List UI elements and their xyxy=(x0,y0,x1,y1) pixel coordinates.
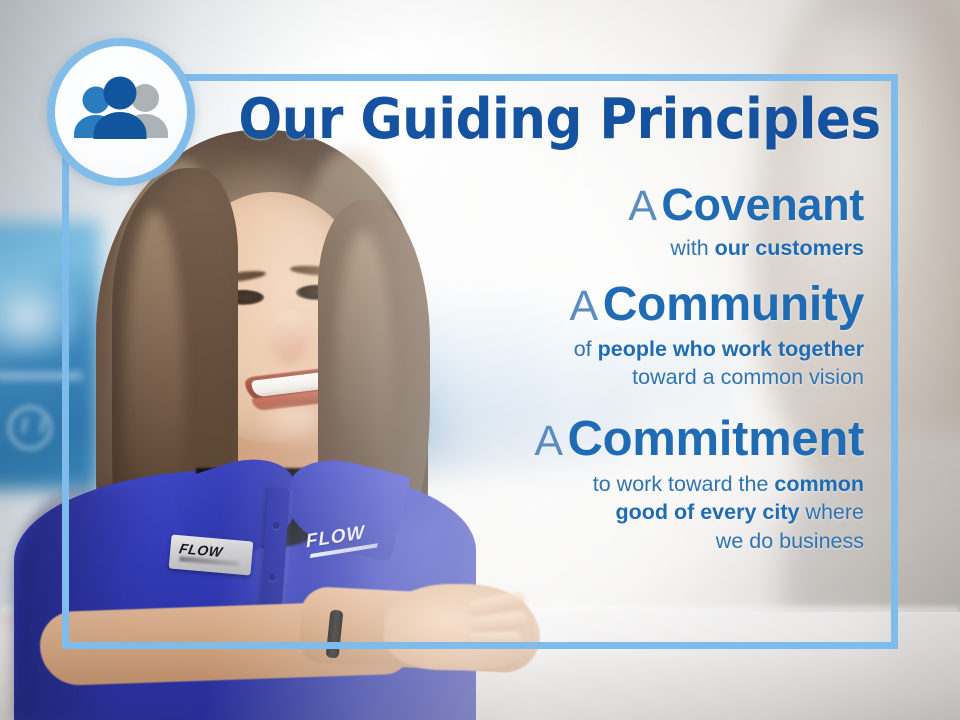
subtitle-emphasis: people who work together xyxy=(598,337,864,361)
principle-subtitle: of people who work togethertoward a comm… xyxy=(250,335,864,392)
principle-article: A xyxy=(628,182,657,230)
finger-3 xyxy=(468,632,522,648)
page-title: Our Guiding Principles xyxy=(238,92,845,148)
clasped-hands xyxy=(384,584,534,670)
principle-article: A xyxy=(570,282,599,330)
name-badge: FLOW xyxy=(169,534,254,575)
subtitle-text: with xyxy=(670,236,714,260)
subtitle-line: toward a common vision xyxy=(250,363,864,391)
polo-shadow xyxy=(14,486,164,720)
principle-covenant: A Covenant with our customers xyxy=(250,182,864,262)
principle-community: A Community of people who work togethert… xyxy=(250,280,864,392)
principle-heading: A Covenant xyxy=(250,182,864,229)
subtitle-emphasis: common xyxy=(774,472,864,496)
principle-keyword: Community xyxy=(603,278,864,331)
polo-button-2 xyxy=(269,574,276,581)
subtitle-emphasis: good of every city xyxy=(615,500,799,524)
principle-article: A xyxy=(534,417,563,465)
principles-list: A Covenant with our customers A Communit… xyxy=(250,182,886,555)
subtitle-line: we do business xyxy=(250,527,864,555)
guiding-principles-graphic: FLOW FLOW xyxy=(0,0,960,720)
subtitle-text: we do business xyxy=(716,529,864,553)
subtitle-line: good of every city where xyxy=(250,498,864,526)
principle-keyword: Commitment xyxy=(568,412,864,466)
subtitle-text: to work toward the xyxy=(593,472,775,496)
principle-subtitle: to work toward the commongood of every c… xyxy=(250,470,864,555)
principle-heading: A Commitment xyxy=(250,414,864,465)
subtitle-line: with our customers xyxy=(250,234,864,262)
people-glyph xyxy=(69,76,173,148)
subtitle-text: toward a common vision xyxy=(632,365,864,389)
subtitle-text: of xyxy=(574,337,598,361)
principle-keyword: Covenant xyxy=(661,179,864,230)
principle-heading: A Community xyxy=(250,280,864,330)
three-people-group-icon xyxy=(47,38,195,186)
subtitle-line: to work toward the common xyxy=(250,470,864,498)
subtitle-line: of people who work together xyxy=(250,335,864,363)
subtitle-text: where xyxy=(799,500,864,524)
principle-commitment: A Commitment to work toward the commongo… xyxy=(250,414,864,555)
subtitle-emphasis: our customers xyxy=(715,236,864,260)
principle-subtitle: with our customers xyxy=(250,234,864,262)
